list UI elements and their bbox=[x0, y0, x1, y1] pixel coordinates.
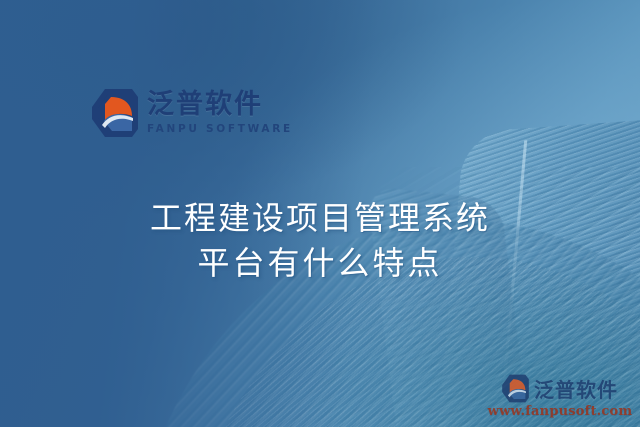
hexagon-swoosh-logo-icon bbox=[502, 374, 529, 403]
hexagon-swoosh-logo-icon bbox=[92, 88, 138, 138]
banner-headline: 工程建设项目管理系统 平台有什么特点 bbox=[0, 196, 640, 287]
brand-logo-wordmark: 泛普软件 FANPU SOFTWARE bbox=[147, 91, 293, 135]
watermark-brand-name: 泛普软件 bbox=[534, 374, 618, 403]
headline-line-1: 工程建设项目管理系统 bbox=[0, 196, 640, 241]
headline-line-2: 平台有什么特点 bbox=[0, 241, 640, 286]
brand-name-cn: 泛普软件 bbox=[147, 91, 293, 118]
brand-logo: 泛普软件 FANPU SOFTWARE bbox=[92, 88, 293, 138]
watermark-logo-row: 泛普软件 bbox=[486, 374, 634, 403]
watermark-url: www.fanpusoft.com bbox=[486, 404, 634, 419]
brand-name-en: FANPU SOFTWARE bbox=[147, 124, 293, 135]
watermark: 泛普软件 www.fanpusoft.com bbox=[486, 374, 634, 419]
promotional-banner: 泛普软件 FANPU SOFTWARE 工程建设项目管理系统 平台有什么特点 泛… bbox=[0, 0, 640, 427]
